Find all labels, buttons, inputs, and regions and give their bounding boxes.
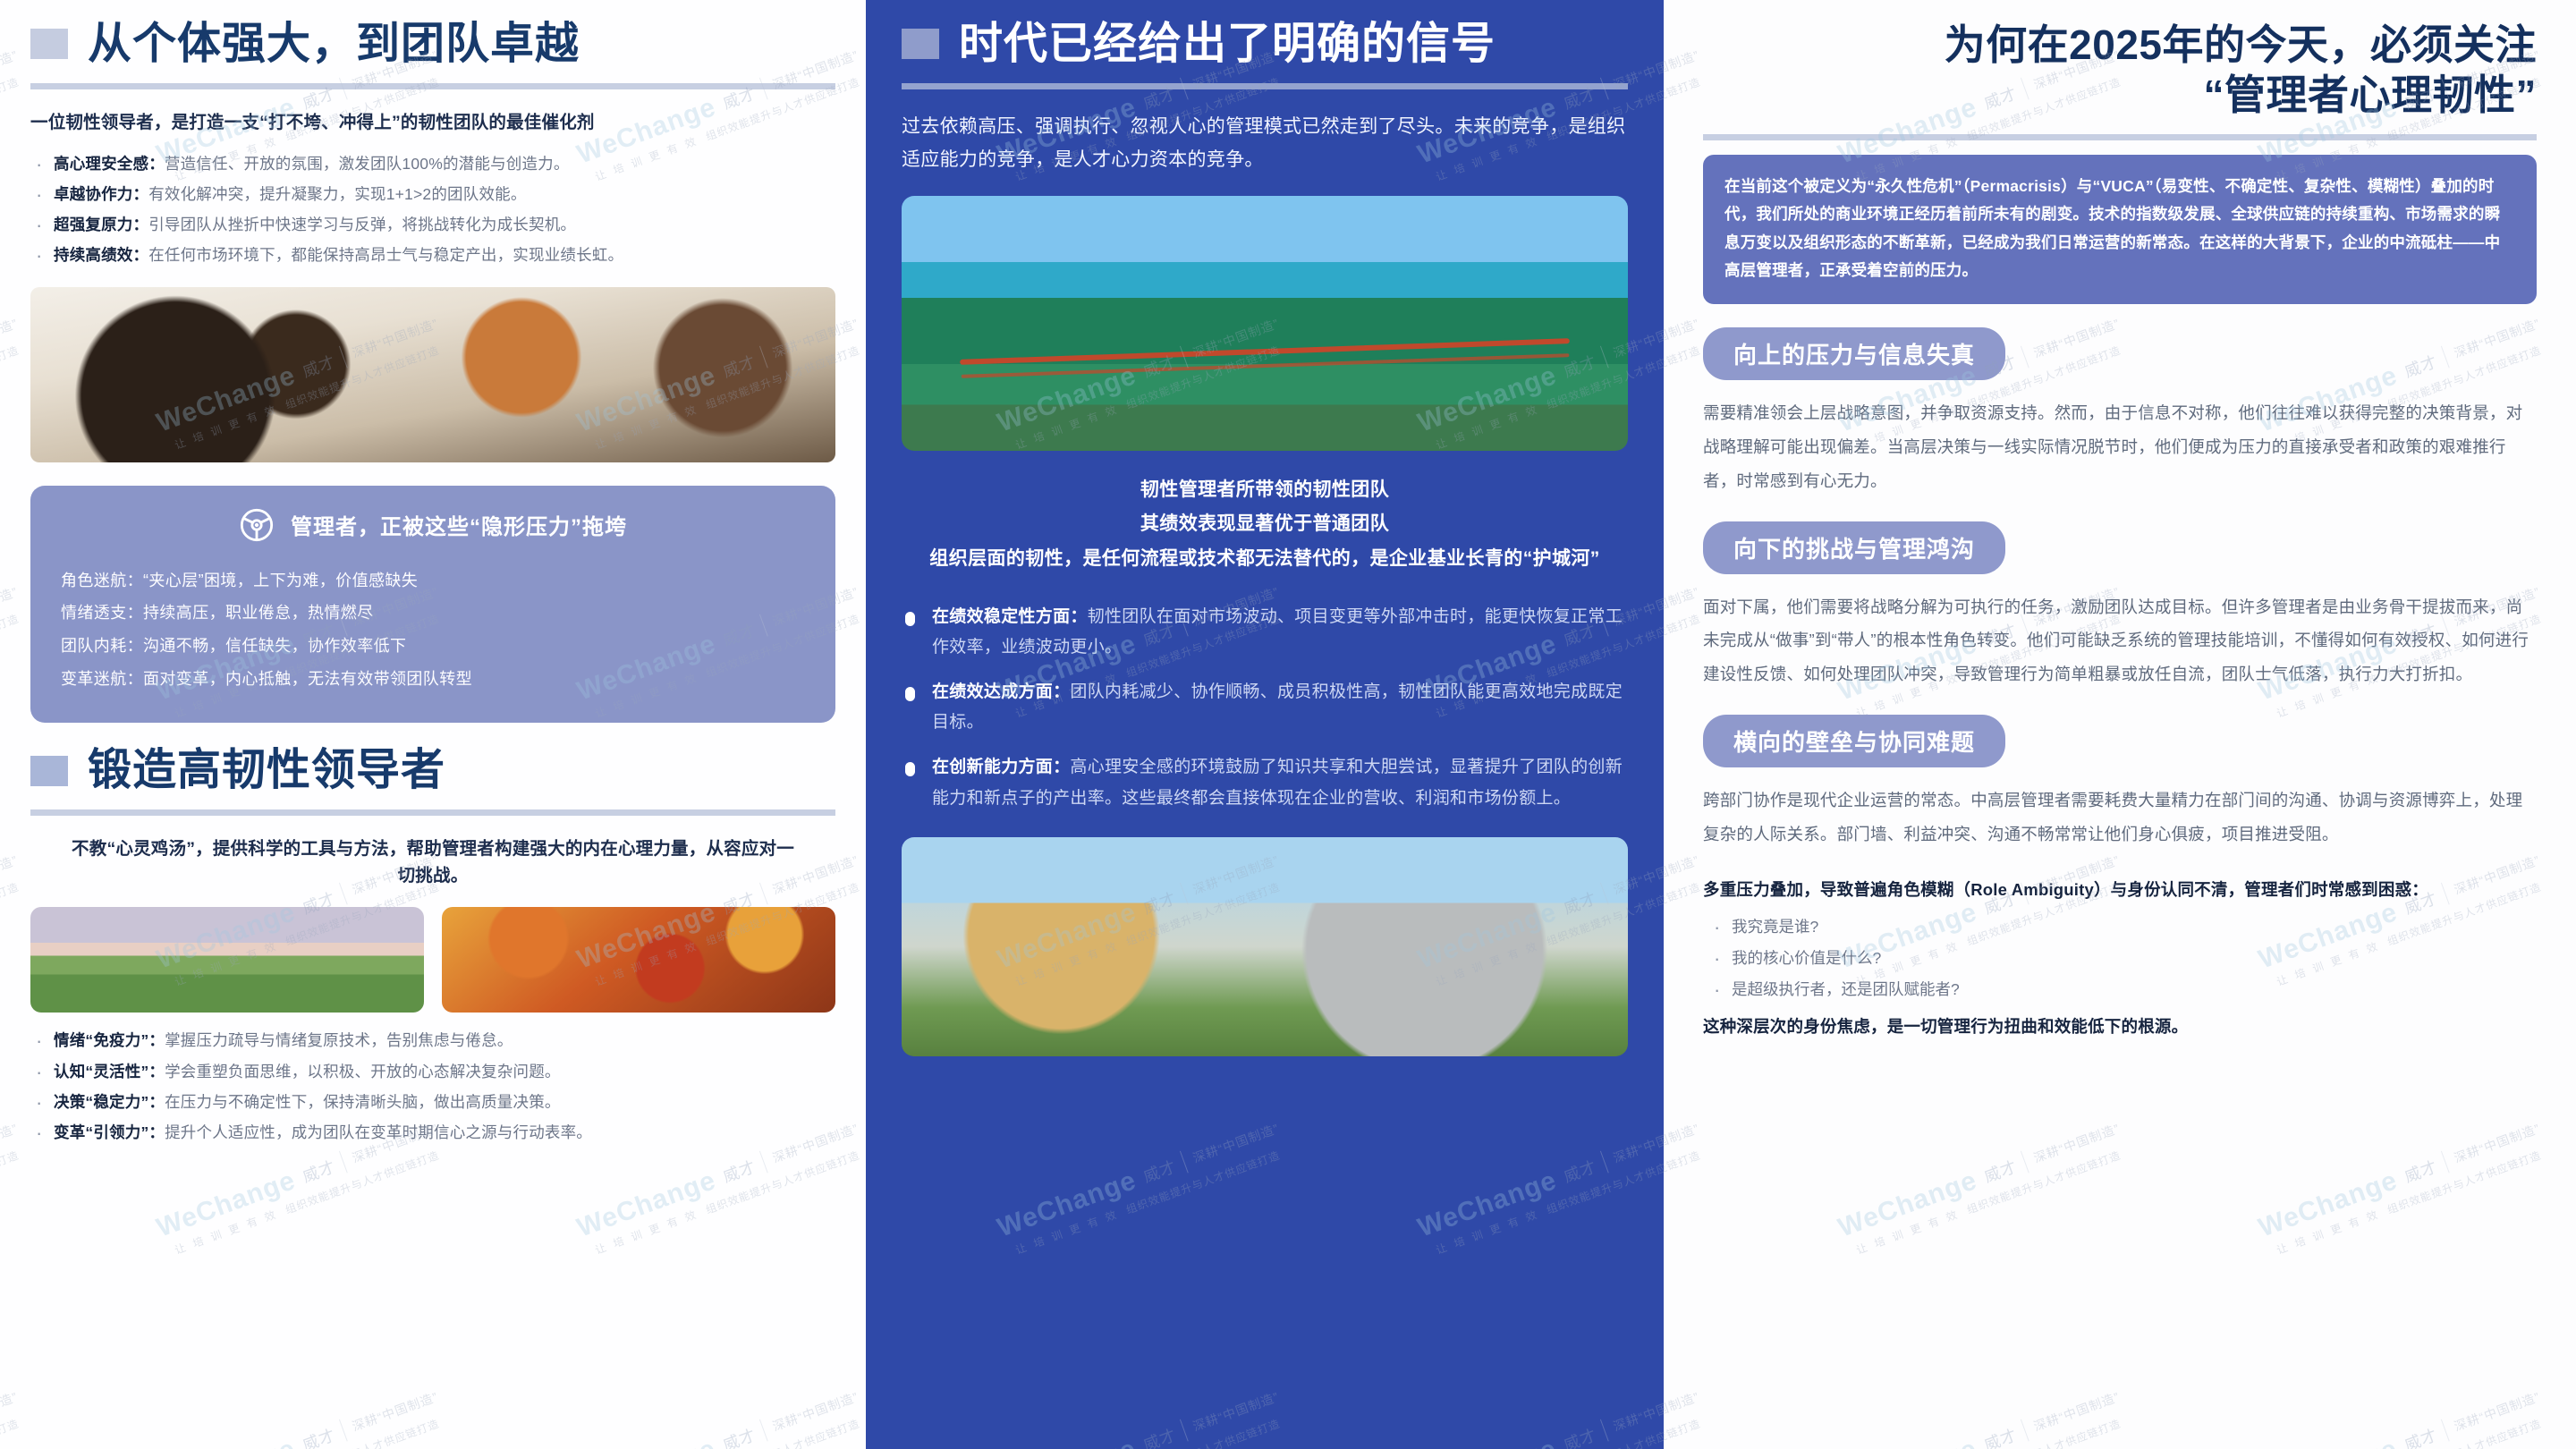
list-item: 情绪透支：持续高压，职业倦怠，热情燃尽 bbox=[61, 597, 805, 630]
card-header: 管理者，正被这些“隐形压力”拖垮 bbox=[61, 507, 805, 543]
list-item: 认知“灵活性”：学会重塑负面思维，以积极、开放的心态解决复杂问题。 bbox=[30, 1056, 835, 1087]
campus-building-photo bbox=[902, 837, 1628, 1056]
left-bullet-list-1: 高心理安全感：营造信任、开放的氛围，激发团队100%的潜能与创造力。 卓越协作力… bbox=[30, 148, 835, 271]
list-item: 角色迷航：“夹心层”困境，上下为难，价值感缺失 bbox=[61, 564, 805, 597]
list-item: 是超级执行者，还是团队赋能者? bbox=[1703, 974, 2537, 1005]
list-item: 卓越协作力：有效化解冲突，提升凝聚力，实现1+1>2的团队效能。 bbox=[30, 179, 835, 209]
list-item: 我究竟是谁? bbox=[1703, 911, 2537, 943]
list-item: 在创新能力方面：高心理安全感的环境鼓励了知识共享和大胆尝试，显著提升了团队的创新… bbox=[902, 752, 1628, 813]
list-item: 持续高绩效：在任何市场环境下，都能保持高昂士气与稳定产出，实现业绩长虹。 bbox=[30, 240, 835, 270]
right-divider bbox=[1703, 134, 2537, 140]
steering-wheel-icon bbox=[239, 507, 275, 543]
section-pill-2: 向下的挑战与管理鸿沟 bbox=[1703, 521, 2005, 574]
hidden-pressure-card: 管理者，正被这些“隐形压力”拖垮 角色迷航：“夹心层”困境，上下为难，价值感缺失… bbox=[30, 486, 835, 724]
list-item: 变革迷航：面对变革，内心抵触，无法有效带领团队转型 bbox=[61, 663, 805, 696]
list-item: 情绪“免疫力”：掌握压力疏导与情绪复原技术，告别焦虑与倦怠。 bbox=[30, 1025, 835, 1055]
mid-center-line-1: 韧性管理者所带领的韧性团队 bbox=[902, 474, 1628, 506]
tropical-beach-photo bbox=[902, 196, 1628, 451]
left-column: 从个体强大，到团队卓越 一位韧性领导者，是打造一支“打不垮、冲得上”的韧性团队的… bbox=[0, 0, 866, 1449]
mid-heading: 时代已经给出了明确的信号 bbox=[902, 20, 1628, 69]
right-title-block: 为何在2025年的今天，必须关注 “管理者心理韧性” bbox=[1703, 20, 2537, 120]
left-title-2: 锻造高韧性领导者 bbox=[88, 746, 445, 795]
right-final-line: 这种深层次的身份焦虑，是一切管理行为扭曲和效能低下的根源。 bbox=[1703, 1014, 2537, 1038]
left-bullet-list-2: 情绪“免疫力”：掌握压力疏导与情绪复原技术，告别焦虑与倦怠。 认知“灵活性”：学… bbox=[30, 1025, 835, 1148]
mid-center-line-2: 其绩效表现显著优于普通团队 bbox=[902, 508, 1628, 540]
right-question-list: 我究竟是谁? 我的核心价值是什么? 是超级执行者，还是团队赋能者? bbox=[1703, 911, 2537, 1005]
list-item: 超强复原力：引导团队从挫折中快速学习与反弹，将挑战转化为成长契机。 bbox=[30, 209, 835, 240]
card-title: 管理者，正被这些“隐形压力”拖垮 bbox=[291, 509, 627, 540]
section-pill-3: 横向的壁垒与协同难题 bbox=[1703, 715, 2005, 767]
autumn-leaves-photo bbox=[442, 907, 835, 1013]
mid-paragraph: 过去依赖高压、强调执行、忽视人心的管理模式已然走到了尽头。未来的竞争，是组织适应… bbox=[902, 111, 1628, 177]
list-item: 团队内耗：沟通不畅，信任缺失，协作效率低下 bbox=[61, 630, 805, 663]
mid-divider bbox=[902, 83, 1628, 89]
heading-square-icon-mid bbox=[902, 29, 939, 59]
card-list: 角色迷航：“夹心层”困境，上下为难，价值感缺失 情绪透支：持续高压，职业倦怠，热… bbox=[61, 564, 805, 697]
left-image-pair bbox=[30, 907, 835, 1013]
mid-bullet-list: 在绩效稳定性方面：韧性团队在面对市场波动、项目变更等外部冲击时，能更快恢复正常工… bbox=[902, 602, 1628, 814]
section-paragraph-1: 需要精准领会上层战略意图，并争取资源支持。然而，由于信息不对称，他们往往难以获得… bbox=[1703, 396, 2537, 498]
right-column: 为何在2025年的今天，必须关注 “管理者心理韧性” 在当前这个被定义为“永久性… bbox=[1664, 0, 2576, 1449]
section-pill-1: 向上的压力与信息失真 bbox=[1703, 327, 2005, 380]
mid-title: 时代已经给出了明确的信号 bbox=[959, 20, 1496, 69]
left-divider-2 bbox=[30, 809, 835, 816]
middle-column: 时代已经给出了明确的信号 过去依赖高压、强调执行、忽视人心的管理模式已然走到了尽… bbox=[866, 0, 1664, 1449]
list-item: 变革“引领力”：提升个人适应性，成为团队在变革时期信心之源与行动表率。 bbox=[30, 1117, 835, 1148]
green-field-photo bbox=[30, 907, 424, 1013]
left-lead-2: 不教“心灵鸡汤”，提供科学的工具与方法，帮助管理者构建强大的内在心理力量，从容应… bbox=[30, 835, 835, 889]
list-item: 决策“稳定力”：在压力与不确定性下，保持清晰头脑，做出高质量决策。 bbox=[30, 1087, 835, 1117]
left-lead-1: 一位韧性领导者，是打造一支“打不垮、冲得上”的韧性团队的最佳催化剂 bbox=[30, 109, 835, 136]
left-title-1: 从个体强大，到团队卓越 bbox=[88, 20, 580, 69]
list-item: 我的核心价值是什么? bbox=[1703, 943, 2537, 974]
right-title-line-1: 为何在2025年的今天，必须关注 bbox=[1703, 20, 2537, 70]
left-heading-2: 锻造高韧性领导者 bbox=[30, 746, 835, 795]
poster-root: 从个体强大，到团队卓越 一位韧性领导者，是打造一支“打不垮、冲得上”的韧性团队的… bbox=[0, 0, 2576, 1449]
list-item: 在绩效达成方面：团队内耗减少、协作顺畅、成员积极性高，韧性团队能更高效地完成既定… bbox=[902, 677, 1628, 738]
heading-square-icon-2 bbox=[30, 756, 68, 786]
section-paragraph-2: 面对下属，他们需要将战略分解为可执行的任务，激励团队达成目标。但许多管理者是由业… bbox=[1703, 590, 2537, 692]
team-meeting-photo bbox=[30, 287, 835, 462]
left-divider-1 bbox=[30, 83, 835, 89]
section-paragraph-3: 跨部门协作是现代企业运营的常态。中高层管理者需要耗费大量精力在部门间的沟通、协调… bbox=[1703, 784, 2537, 852]
right-intro-card: 在当前这个被定义为“永久性危机”（Permacrisis）与“VUCA”（易变性… bbox=[1703, 155, 2537, 304]
list-item: 在绩效稳定性方面：韧性团队在面对市场波动、项目变更等外部冲击时，能更快恢复正常工… bbox=[902, 602, 1628, 663]
mid-center-line-3: 组织层面的韧性，是任何流程或技术都无法替代的，是企业基业长青的“护城河” bbox=[902, 543, 1628, 575]
right-title-line-2: “管理者心理韧性” bbox=[1703, 70, 2537, 120]
heading-square-icon bbox=[30, 29, 68, 59]
right-closing-strong: 多重压力叠加，导致普遍角色模糊（Role Ambiguity）与身份认同不清，管… bbox=[1703, 875, 2537, 904]
list-item: 高心理安全感：营造信任、开放的氛围，激发团队100%的潜能与创造力。 bbox=[30, 148, 835, 179]
left-heading-1: 从个体强大，到团队卓越 bbox=[30, 20, 835, 69]
